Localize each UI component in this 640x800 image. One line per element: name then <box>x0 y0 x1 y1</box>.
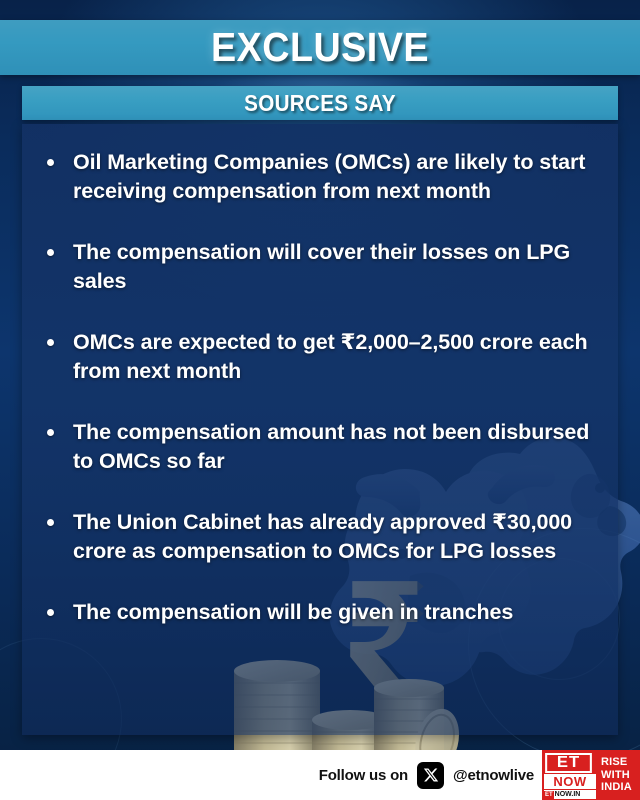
bullet-dot-icon <box>47 429 54 436</box>
bullet-panel: Oil Marketing Companies (OMCs) are likel… <box>22 124 618 735</box>
exclusive-banner: EXCLUSIVE <box>0 20 640 75</box>
et-url-prefix: ET <box>544 791 554 799</box>
exclusive-label: EXCLUSIVE <box>26 20 615 75</box>
tagline-line-3: INDIA <box>601 781 640 794</box>
list-item-text: The compensation amount has not been dis… <box>73 420 589 473</box>
list-item: Oil Marketing Companies (OMCs) are likel… <box>44 148 596 207</box>
list-item: The compensation will cover their losses… <box>44 238 596 297</box>
bullet-dot-icon <box>47 609 54 616</box>
follow-us-group: Follow us on @etnowlive <box>319 762 534 789</box>
x-twitter-icon[interactable] <box>417 762 444 789</box>
list-item-text: OMCs are expected to get ₹2,000–2,500 cr… <box>73 330 587 383</box>
footer-bar: Follow us on @etnowlive ET NOW ET NOW.IN… <box>0 750 640 800</box>
news-graphic-card: EXCLUSIVE SOURCES SAY Oil Marketing Comp… <box>0 0 640 800</box>
list-item: The Union Cabinet has already approved ₹… <box>44 508 596 567</box>
list-item-text: The compensation will cover their losses… <box>73 240 570 293</box>
et-url-suffix: NOW.IN <box>554 791 581 799</box>
tagline-line-2: WITH <box>601 769 640 782</box>
bullet-dot-icon <box>47 339 54 346</box>
list-item-text: Oil Marketing Companies (OMCs) are likel… <box>73 150 585 203</box>
et-now-logo-mark: ET NOW ET NOW.IN <box>542 750 598 800</box>
list-item-text: The compensation will be given in tranch… <box>73 600 513 624</box>
now-logo-text: NOW <box>544 774 596 789</box>
list-item: The compensation will be given in tranch… <box>44 598 596 627</box>
et-now-logo[interactable]: ET NOW ET NOW.IN RISE WITH INDIA <box>542 750 640 800</box>
list-item: The compensation amount has not been dis… <box>44 418 596 477</box>
bullet-dot-icon <box>47 159 54 166</box>
tagline-line-1: RISE <box>601 756 640 769</box>
et-logo-text: ET <box>545 753 592 773</box>
et-now-tagline: RISE WITH INDIA <box>598 750 640 800</box>
bullet-dot-icon <box>47 519 54 526</box>
list-item: OMCs are expected to get ₹2,000–2,500 cr… <box>44 328 596 387</box>
sources-say-banner: SOURCES SAY <box>22 86 618 120</box>
list-item-text: The Union Cabinet has already approved ₹… <box>73 510 572 563</box>
social-handle[interactable]: @etnowlive <box>453 767 534 784</box>
et-now-url: ET NOW.IN <box>544 790 596 799</box>
sources-say-label: SOURCES SAY <box>52 86 588 120</box>
bullet-dot-icon <box>47 249 54 256</box>
bullet-list: Oil Marketing Companies (OMCs) are likel… <box>44 148 596 627</box>
follow-us-label: Follow us on <box>319 767 408 784</box>
